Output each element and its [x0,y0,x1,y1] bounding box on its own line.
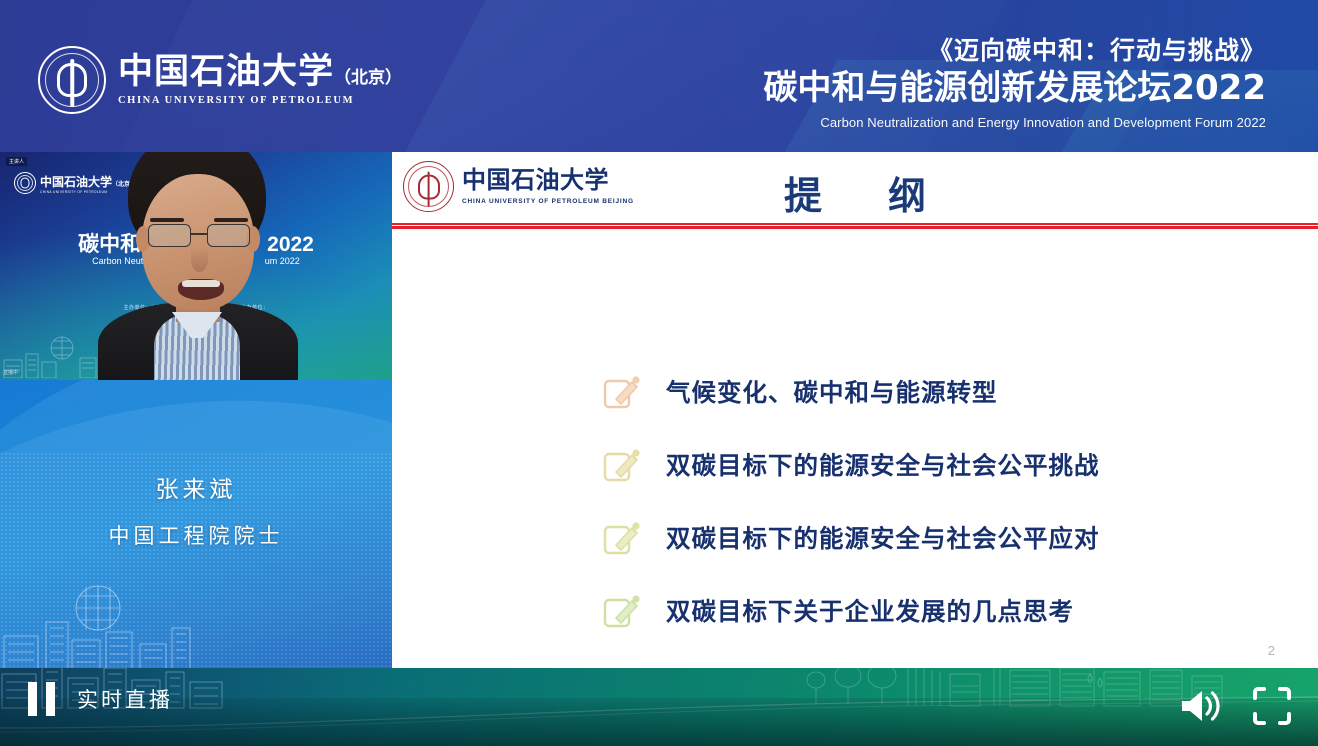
player-control-bar: 实时直播 [0,668,1318,746]
speaker-info: 张来斌 中国工程院院士 [0,470,392,550]
university-name-cn: 中国石油大学 [118,51,334,92]
forum-titles: 《迈向碳中和：行动与挑战》 碳中和与能源创新发展论坛2022 Carbon Ne… [763,36,1266,130]
outline-item[interactable]: 气候变化、碳中和与能源转型 [602,355,1278,428]
live-label: 实时直播 [77,684,173,714]
university-campus-cn: （北京） [334,68,402,88]
outline-item-label: 气候变化、碳中和与能源转型 [666,374,998,409]
outline-item[interactable]: 双碳目标下的能源安全与社会公平挑战 [602,428,1278,501]
outline-item-label: 双碳目标下的能源安全与社会公平挑战 [666,447,1100,482]
panel-city-skyline-decor [0,578,260,668]
speaker-webcam-video[interactable]: 主讲人 中国石油大学（北京） CHINA UNIVERSITY OF PETRO… [0,152,392,380]
player-right-controls [1176,684,1294,728]
volume-on-icon[interactable] [1176,684,1220,728]
slide-body: 气候变化、碳中和与能源转型 双碳目标下的能源安全与社会公平挑战 [392,229,1318,668]
webcam-bottom-label: 直播中 [3,369,18,376]
speaker-glasses [148,224,250,248]
slide-page-number: 2 [1268,643,1275,658]
forum-title: 碳中和与能源创新发展论坛2022 [763,68,1266,109]
webcam-seal-icon [14,172,36,194]
slide-outline-list: 气候变化、碳中和与能源转型 双碳目标下的能源安全与社会公平挑战 [602,355,1278,647]
outline-item[interactable]: 双碳目标下的能源安全与社会公平应对 [602,501,1278,574]
speaker-panel: 主讲人 中国石油大学（北京） CHINA UNIVERSITY OF PETRO… [0,152,392,668]
university-name-en: CHINA UNIVERSITY OF PETROLEUM [118,96,402,107]
outline-item[interactable]: 双碳目标下关于企业发展的几点思考 [602,574,1278,647]
forum-quote: 《迈向碳中和：行动与挑战》 [763,36,1266,66]
university-logo-text: 中国石油大学（北京） CHINA UNIVERSITY OF PETROLEUM [118,54,402,107]
slide-header: 中国石油大学 CHINA UNIVERSITY OF PETROLEUM BEI… [392,152,1318,223]
speaker-figure [92,152,300,380]
slide-title: 提 纲 [392,165,1318,220]
live-stream-player: 中国石油大学（北京） CHINA UNIVERSITY OF PETROLEUM… [0,0,1318,746]
edit-pencil-icon [602,591,642,631]
edit-pencil-icon [602,445,642,485]
university-seal-icon [38,46,106,114]
fullscreen-icon[interactable] [1250,684,1294,728]
live-status-group: 实时直播 [28,682,173,716]
university-logo: 中国石油大学（北京） CHINA UNIVERSITY OF PETROLEUM [38,46,402,114]
outline-item-label: 双碳目标下的能源安全与社会公平应对 [666,520,1100,555]
edit-pencil-icon [602,518,642,558]
page-header: 中国石油大学（北京） CHINA UNIVERSITY OF PETROLEUM… [0,0,1318,152]
bottom-bar-shade [0,698,1318,746]
webcam-corner-label: 主讲人 [6,157,27,166]
edit-pencil-icon [602,372,642,412]
presentation-slide: 中国石油大学 CHINA UNIVERSITY OF PETROLEUM BEI… [392,152,1318,668]
speaker-title: 中国工程院院士 [0,520,392,550]
outline-item-label: 双碳目标下关于企业发展的几点思考 [666,593,1074,628]
speaker-name: 张来斌 [0,470,392,504]
forum-title-en: Carbon Neutralization and Energy Innovat… [763,115,1266,130]
presentation-slide-area[interactable]: 中国石油大学 CHINA UNIVERSITY OF PETROLEUM BEI… [392,152,1318,668]
pause-icon[interactable] [28,682,55,716]
